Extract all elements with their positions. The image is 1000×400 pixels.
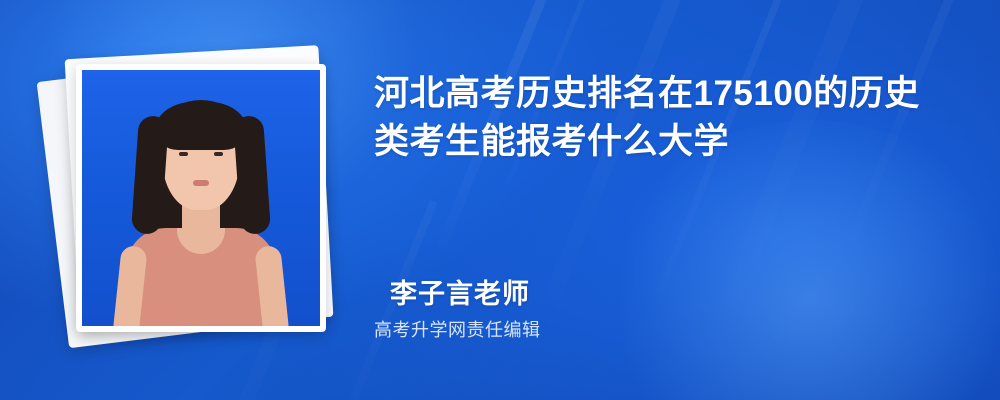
headline-line-1: 河北高考历史排名在175100的历史 [374,70,964,118]
article-cover-banner: 河北高考历史排名在175100的历史 类考生能报考什么大学 李子言老师 高考升学… [0,0,1000,400]
headline-line-2: 类考生能报考什么大学 [374,118,964,166]
photo-card-stack [48,30,348,370]
photo-card-front [76,64,326,332]
author-role: 高考升学网责任编辑 [374,316,541,342]
headline-block: 河北高考历史排名在175100的历史 类考生能报考什么大学 [374,70,964,167]
portrait-image [82,70,320,326]
author-name: 李子言老师 [390,272,530,311]
